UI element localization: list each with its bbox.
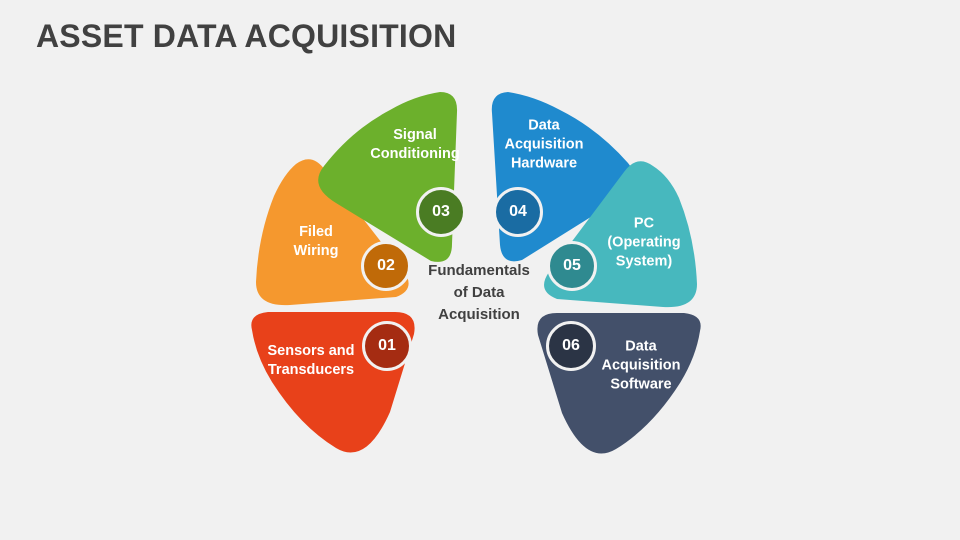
petal-badge-01[interactable]: 01 [362,321,412,371]
petal-badge-03[interactable]: 03 [416,187,466,237]
petal-badge-02[interactable]: 02 [361,241,411,291]
center-label: Fundamentals of Data Acquisition [428,260,530,326]
petal-badge-04[interactable]: 04 [493,187,543,237]
petal-badge-06[interactable]: 06 [546,321,596,371]
petal-badge-05[interactable]: 05 [547,241,597,291]
slide-canvas: ASSET DATA ACQUISITION Sensors and Trans… [0,0,960,540]
